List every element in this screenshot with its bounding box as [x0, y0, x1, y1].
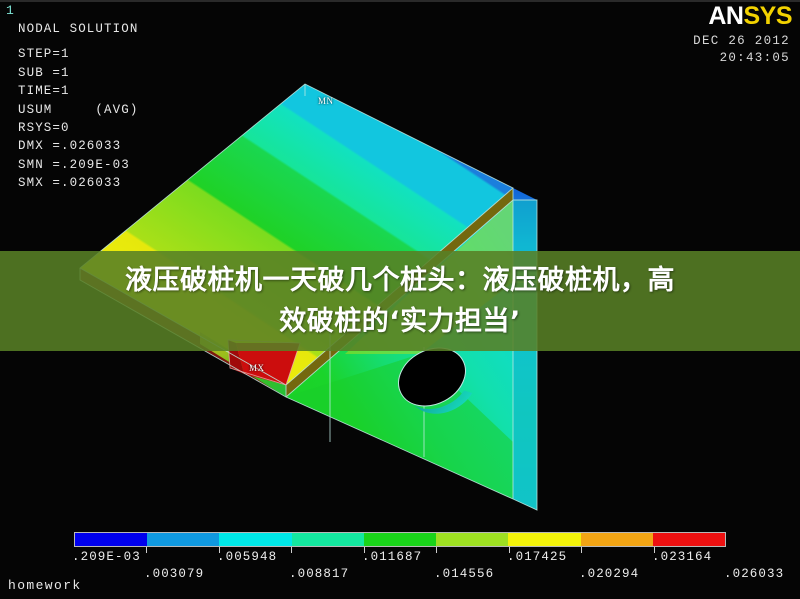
- max-node-label: MX: [249, 363, 265, 373]
- legend-band-7: [581, 533, 653, 546]
- legend-band-8: [653, 533, 725, 546]
- legend-labels-row-upper: .209E-03.005948.011687.017425.023164: [0, 549, 800, 566]
- legend-label-4: .011687: [362, 549, 422, 566]
- legend-band-0: [75, 533, 147, 546]
- legend-band-4: [364, 533, 436, 546]
- legend-colorbar[interactable]: [74, 532, 726, 547]
- legend-label-9: .026033: [724, 566, 784, 583]
- legend-label-0: .209E-03: [72, 549, 141, 566]
- legend-band-2: [219, 533, 291, 546]
- legend-band-6: [508, 533, 580, 546]
- legend-band-3: [292, 533, 364, 546]
- web-plate-edge: [513, 200, 537, 510]
- overlay-banner-line-2: 效破桩的‘实力担当’: [40, 301, 760, 342]
- legend-label-1: .003079: [144, 566, 204, 583]
- legend-band-5: [436, 533, 508, 546]
- contour-legend[interactable]: .209E-03.005948.011687.017425.023164 .00…: [0, 530, 800, 582]
- overlay-banner-text: 液压破桩机一天破几个桩头：液压破桩机，高 效破桩的‘实力担当’: [40, 260, 760, 342]
- legend-label-8: .023164: [652, 549, 712, 566]
- legend-band-1: [147, 533, 219, 546]
- legend-label-6: .017425: [507, 549, 567, 566]
- footer-label: homework: [8, 578, 82, 593]
- min-node-label: MN: [318, 96, 334, 106]
- ansys-plot-window: 1 NODAL SOLUTIONSTEP=1 SUB =1 TIME=1 USU…: [0, 0, 800, 599]
- overlay-banner-line-1: 液压破桩机一天破几个桩头：液压破桩机，高: [40, 260, 760, 301]
- legend-label-2: .005948: [217, 549, 277, 566]
- overlay-banner: 液压破桩机一天破几个桩头：液压破桩机，高 效破桩的‘实力担当’: [0, 251, 800, 351]
- legend-label-5: .014556: [434, 566, 494, 583]
- legend-labels-row-lower: .003079.008817.014556.020294.026033: [0, 566, 800, 583]
- legend-label-7: .020294: [579, 566, 639, 583]
- legend-label-3: .008817: [289, 566, 349, 583]
